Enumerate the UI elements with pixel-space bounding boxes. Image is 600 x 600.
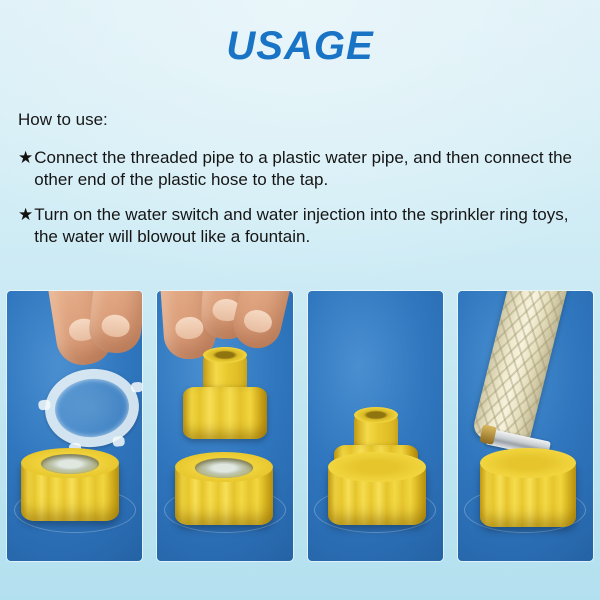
- washer-tab: [131, 382, 143, 393]
- nut-top-face: [328, 452, 426, 482]
- step-photo-1: [7, 291, 142, 561]
- nut-top-face: [480, 448, 576, 478]
- fingernail: [175, 316, 204, 340]
- washer-tab: [38, 399, 51, 410]
- adapter-threaded-cone: [183, 387, 267, 439]
- nut-bore: [41, 454, 99, 474]
- instruction-text: Turn on the water switch and water injec…: [34, 204, 584, 248]
- hose-connector-nut: [328, 461, 426, 525]
- usage-instruction-page: USAGE How to use: ★ Connect the threaded…: [0, 0, 600, 600]
- hose-connector-nut: [21, 457, 119, 521]
- washer-tab: [112, 436, 125, 447]
- threaded-adapter: [183, 353, 267, 439]
- step-photo-2: [157, 291, 292, 561]
- finger-icon: [229, 291, 293, 353]
- step-photo-3: [308, 291, 443, 561]
- page-title: USAGE: [0, 24, 600, 69]
- hose-connector-nut: [480, 457, 576, 527]
- step-photo-4: [458, 291, 593, 561]
- list-item: ★ Connect the threaded pipe to a plastic…: [18, 147, 584, 191]
- how-to-use-heading: How to use:: [18, 110, 108, 130]
- fingernail: [242, 307, 274, 335]
- step-photo-strip: [7, 291, 593, 561]
- adapter-spout-opening: [203, 347, 247, 363]
- list-item: ★ Turn on the water switch and water inj…: [18, 204, 584, 248]
- hose-connector-nut: [175, 461, 273, 525]
- fingernail: [101, 313, 131, 338]
- star-bullet-icon: ★: [18, 147, 33, 169]
- star-bullet-icon: ★: [18, 204, 33, 226]
- nut-bore: [195, 458, 253, 478]
- instruction-text: Connect the threaded pipe to a plastic w…: [34, 147, 584, 191]
- adapter-spout-opening: [354, 407, 398, 423]
- clamp-screw: [479, 424, 496, 445]
- rubber-washer: [41, 364, 142, 451]
- instruction-list: ★ Connect the threaded pipe to a plastic…: [18, 147, 584, 261]
